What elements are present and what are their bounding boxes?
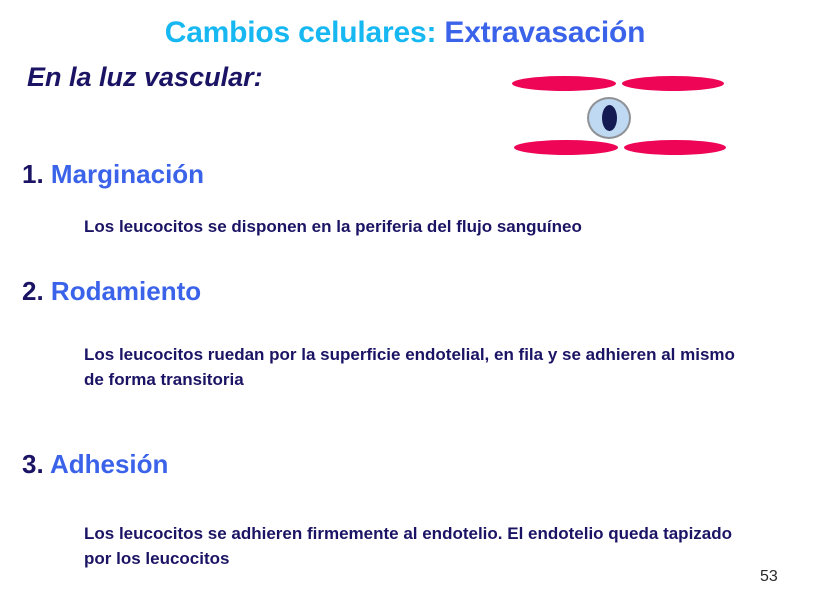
leukocyte-nucleus-icon [602,105,617,131]
slide-canvas: Cambios celulares: Extravasación En la l… [0,0,823,607]
step-label-3: Adhesión [50,449,168,479]
erythrocyte-icon-bottom-left [514,140,618,155]
step-number-1: 1. [22,159,44,189]
leukocyte-margination-diagram [505,68,735,168]
step-body-2: Los leucocitos ruedan por la superficie … [84,342,756,392]
step-body-1: Los leucocitos se disponen en la perifer… [84,214,784,239]
page-number: 53 [760,568,778,586]
erythrocyte-icon-top-left [512,76,616,91]
erythrocyte-icon-bottom-right [624,140,726,155]
step-label-1: Marginación [51,159,204,189]
page-title: Cambios celulares: Extravasación [0,16,810,50]
leukocyte-icon [587,97,631,139]
step-heading-3: 3. Adhesión [22,449,168,480]
section-subtitle: En la luz vascular: [27,62,263,93]
step-label-2: Rodamiento [51,276,201,306]
erythrocyte-icon-top-right [622,76,724,91]
step-heading-2: 2. Rodamiento [22,276,201,307]
step-number-2: 2. [22,276,44,306]
step-number-3: 3. [22,449,44,479]
step-body-3: Los leucocitos se adhieren firmemente al… [84,521,764,571]
step-heading-1: 1. Marginación [22,159,204,190]
page-title-secondary: Extravasación [444,16,645,49]
page-title-primary: Cambios celulares: [165,16,437,49]
